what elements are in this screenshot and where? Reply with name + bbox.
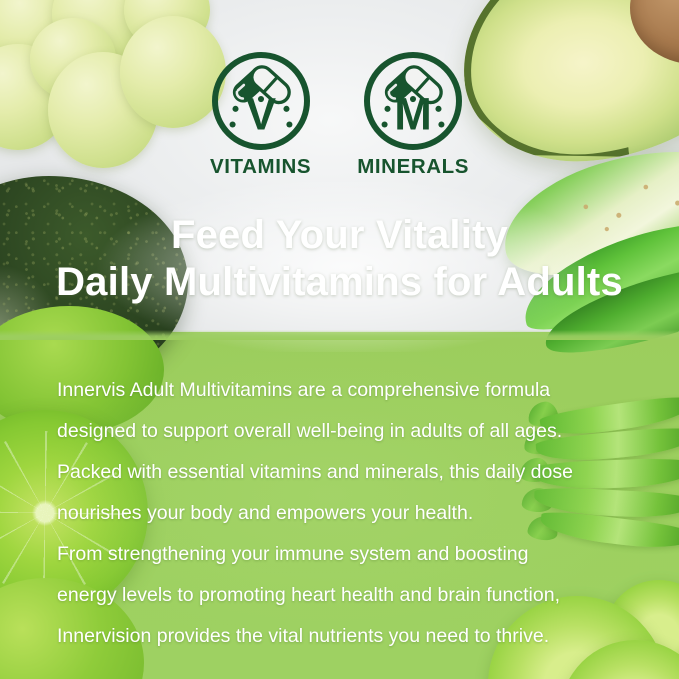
- capsule-pill-icon: M: [364, 52, 462, 150]
- headline-line-1: Feed Your Vitality: [0, 214, 679, 256]
- badge-minerals: M MINERALS: [357, 52, 469, 178]
- description-line: Innervision provides the vital nutrients…: [57, 616, 627, 657]
- description-line: nourishes your body and empowers your he…: [57, 493, 627, 534]
- capsule-pill-icon: V: [212, 52, 310, 150]
- badge-row: V VITAMINS: [0, 52, 679, 178]
- description-text: Innervis Adult Multivitamins are a compr…: [57, 370, 627, 657]
- badge-vitamins: V VITAMINS: [210, 52, 311, 178]
- minerals-ring-icon: M: [364, 52, 462, 150]
- description-line: energy levels to promoting heart health …: [57, 575, 627, 616]
- page-title: Feed Your Vitality Daily Multivitamins f…: [0, 214, 679, 304]
- description-line: Innervis Adult Multivitamins are a compr…: [57, 370, 627, 411]
- product-banner: V VITAMINS: [0, 0, 679, 679]
- banner-content: V VITAMINS: [0, 0, 679, 679]
- headline-line-2: Daily Multivitamins for Adults: [0, 261, 679, 303]
- vitamins-ring-icon: V: [212, 52, 310, 150]
- badge-label-minerals: MINERALS: [357, 157, 469, 178]
- description-line: designed to support overall well-being i…: [57, 411, 627, 452]
- description-line: From strengthening your immune system an…: [57, 534, 627, 575]
- description-line: Packed with essential vitamins and miner…: [57, 452, 627, 493]
- badge-label-vitamins: VITAMINS: [210, 157, 311, 178]
